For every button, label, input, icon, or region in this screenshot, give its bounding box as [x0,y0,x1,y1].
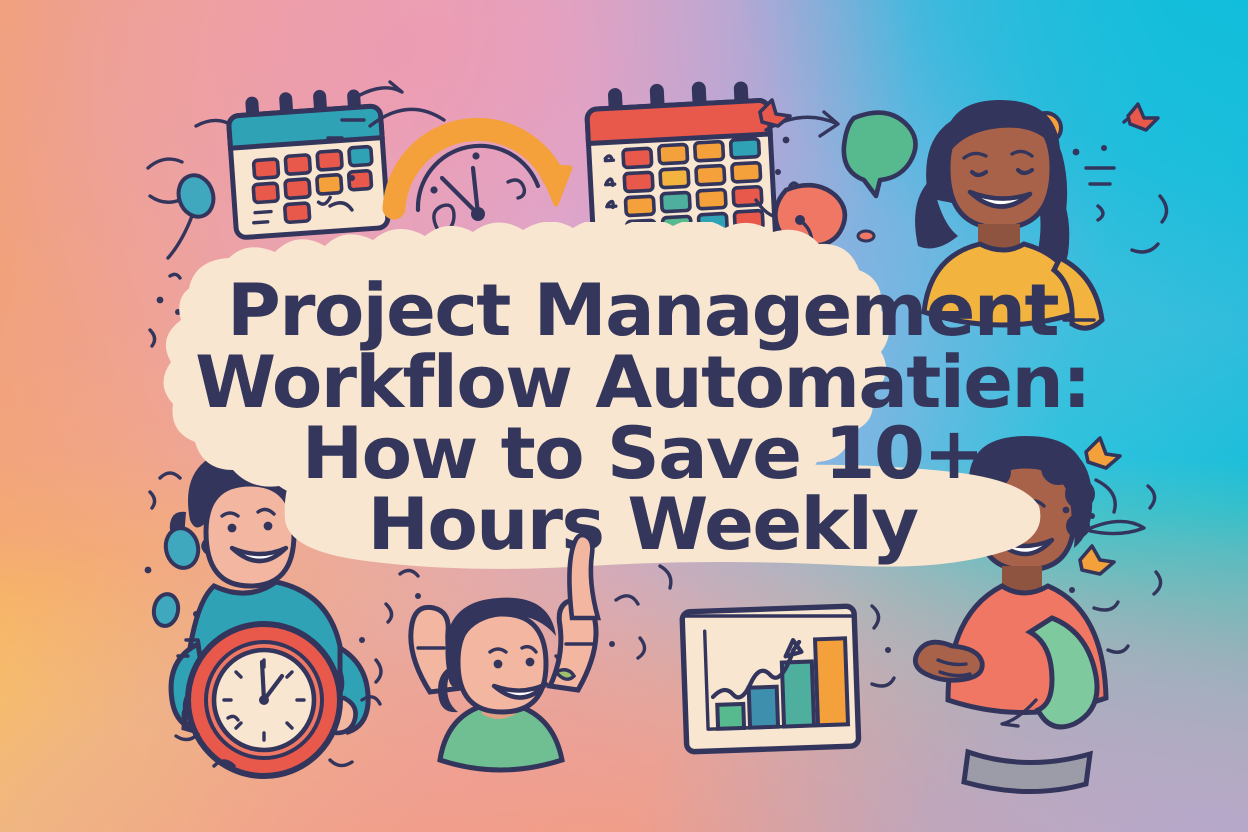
chat-bubbles [775,113,915,246]
headline-line-1: Project Management [140,275,1145,346]
headline-line-3: How to Save 10+ [140,418,1145,489]
calendar-teal-header [227,86,389,238]
header-illustration: .ink { stroke:#33355C; stroke-width:5; s… [0,0,1248,832]
headline-text: Project Management Workflow Automatien: … [150,238,1135,598]
calendar-red-header [586,78,777,257]
person-cheering-green-shirt [411,598,596,770]
headline-line-4: Hours Weekly [140,489,1145,560]
growth-chart-card [682,606,859,752]
headline-line-2: Workflow Automatien: [140,347,1145,418]
